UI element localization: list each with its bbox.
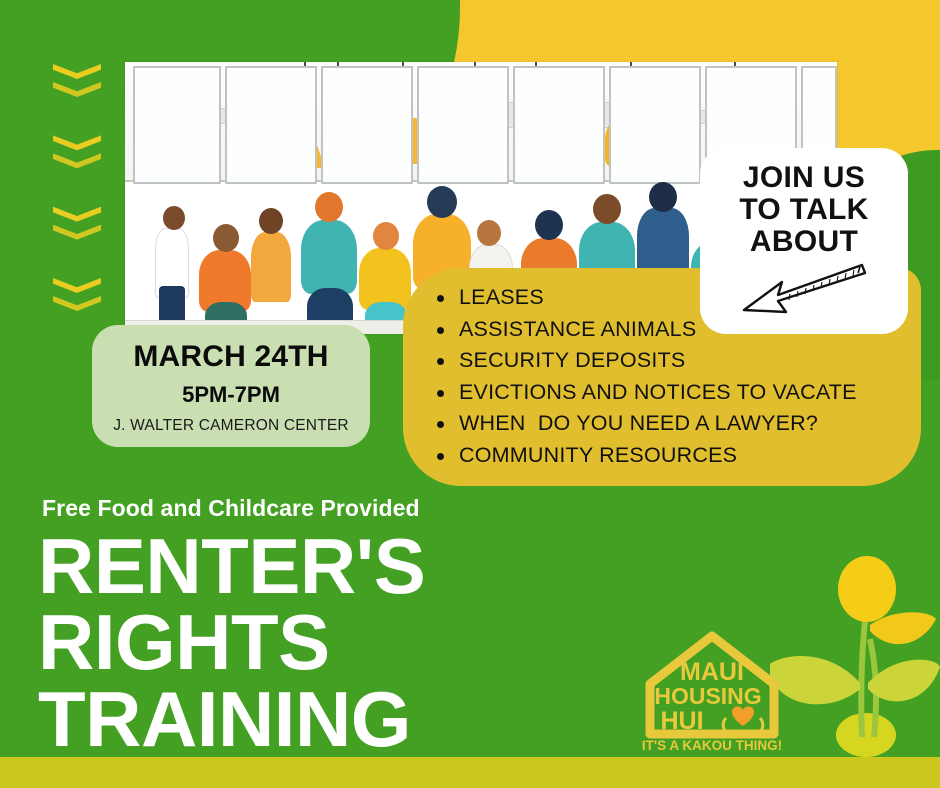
join-line-3: ABOUT <box>750 226 858 258</box>
flyer-canvas: JOIN US TO TALK ABOUT LEASES ASSISTANCE … <box>0 0 940 788</box>
event-details-card: MARCH 24TH 5PM-7PM J. WALTER CAMERON CEN… <box>92 325 370 447</box>
logo-line-3: HUI <box>660 707 703 735</box>
chevron-tapa-pattern-icon <box>46 62 108 320</box>
join-line-2: TO TALK <box>739 194 868 226</box>
kicker-text: Free Food and Childcare Provided <box>42 495 420 522</box>
join-line-1: JOIN US <box>743 162 865 194</box>
join-us-card: JOIN US TO TALK ABOUT <box>700 148 908 334</box>
event-date: MARCH 24TH <box>92 340 370 374</box>
page-title: RENTER'S RIGHTS TRAINING <box>38 528 658 757</box>
sprout-plant-icon <box>770 507 940 757</box>
title-line-1: RENTER'S <box>38 528 658 604</box>
logo-line-1: MAUI <box>680 658 744 686</box>
hand-drawn-arrow-down-left-icon <box>734 259 874 317</box>
logo-tagline: IT'S A KAKOU THING! <box>642 738 782 753</box>
event-time: 5PM-7PM <box>92 382 370 408</box>
list-item: WHEN DO YOU NEED A LAWYER? <box>433 408 921 440</box>
title-line-3: TRAINING <box>38 681 658 757</box>
list-item: COMMUNITY RESOURCES <box>433 440 921 472</box>
list-item: EVICTIONS AND NOTICES TO VACATE <box>433 377 921 409</box>
title-line-2: RIGHTS <box>38 604 658 680</box>
list-item: SECURITY DEPOSITS <box>433 345 921 377</box>
maui-housing-hui-logo: MAUI HOUSING HUI IT'S A KAKOU THING! <box>636 622 788 754</box>
event-venue: J. WALTER CAMERON CENTER <box>92 417 370 435</box>
logo-line-2: HOUSING <box>654 683 761 709</box>
